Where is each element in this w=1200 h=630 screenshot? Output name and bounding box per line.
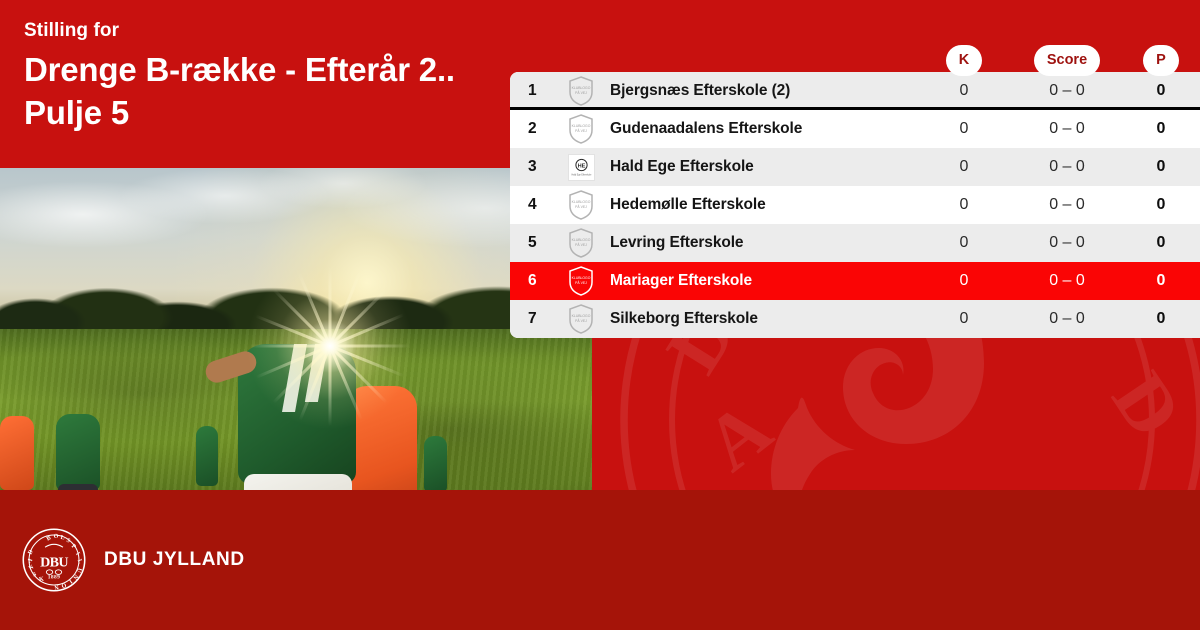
svg-text:I: I <box>74 551 81 557</box>
table-row[interactable]: 4KLUBLOGOPÅ VEJHedemølle Efterskole00 – … <box>510 186 1200 224</box>
svg-text:PÅ VEJ: PÅ VEJ <box>575 204 587 209</box>
header-kicker: Stilling for <box>24 18 588 44</box>
column-header-p[interactable]: P <box>1143 45 1179 76</box>
photo-player-far-left-green <box>56 414 100 490</box>
row-rank: 6 <box>510 272 552 290</box>
photo-player-right-background <box>424 436 447 490</box>
row-crest: KLUBLOGOPÅ VEJ <box>552 189 610 221</box>
row-crest: KLUBLOGOPÅ VEJ <box>552 75 610 107</box>
row-team-name: Bjergsnæs Efterskole (2) <box>610 82 916 100</box>
photo-player-far-left-orange <box>0 416 34 490</box>
page-title: Drenge B-række - Efterår 2.. Pulje 5 <box>24 48 588 134</box>
dbu-logo: D A N S K B O L S P I L U N I O N DBU 18… <box>22 528 86 592</box>
row-points: 0 <box>1122 196 1200 214</box>
svg-text:PÅ VEJ: PÅ VEJ <box>575 280 587 285</box>
row-matches-played: 0 <box>916 196 1012 214</box>
footer-bar: D A N S K B O L S P I L U N I O N DBU 18… <box>0 490 1200 630</box>
row-matches-played: 0 <box>916 158 1012 176</box>
row-rank: 2 <box>510 120 552 138</box>
svg-text:KLUBLOGO: KLUBLOGO <box>572 86 591 90</box>
row-matches-played: 0 <box>916 120 1012 138</box>
row-team-name: Mariager Efterskole <box>610 272 916 290</box>
svg-text:L: L <box>60 535 65 542</box>
svg-text:PÅ VEJ: PÅ VEJ <box>575 242 587 247</box>
svg-text:PÅ VEJ: PÅ VEJ <box>575 128 587 133</box>
svg-text:O: O <box>53 533 59 540</box>
row-crest: HEHald Ege Efterskole <box>552 154 610 181</box>
shield-crest-icon: KLUBLOGOPÅ VEJ <box>567 113 595 145</box>
svg-text:N: N <box>53 583 59 589</box>
row-points: 0 <box>1122 234 1200 252</box>
row-score: 0 – 0 <box>1012 272 1122 290</box>
row-score: 0 – 0 <box>1012 234 1122 252</box>
svg-text:D: D <box>1096 357 1200 452</box>
table-row[interactable]: 5KLUBLOGOPÅ VEJLevring Efterskole00 – 00 <box>510 224 1200 262</box>
row-team-name: Hedemølle Efterskole <box>610 196 916 214</box>
column-header-k[interactable]: K <box>946 45 982 76</box>
row-matches-played: 0 <box>916 82 1012 100</box>
shield-crest-icon: KLUBLOGOPÅ VEJ <box>567 75 595 107</box>
row-crest: KLUBLOGOPÅ VEJ <box>552 265 610 297</box>
svg-text:A: A <box>27 557 35 565</box>
svg-text:B: B <box>46 535 52 542</box>
svg-text:L: L <box>76 559 83 565</box>
football-photo <box>0 168 592 490</box>
row-rank: 5 <box>510 234 552 252</box>
row-score: 0 – 0 <box>1012 196 1122 214</box>
table-row[interactable]: 7KLUBLOGOPÅ VEJSilkeborg Efterskole00 – … <box>510 300 1200 338</box>
row-points: 0 <box>1122 158 1200 176</box>
svg-text:DBU: DBU <box>40 554 68 570</box>
row-rank: 4 <box>510 196 552 214</box>
svg-text:Hald Ege Efterskole: Hald Ege Efterskole <box>571 173 592 176</box>
row-team-name: Silkeborg Efterskole <box>610 310 916 328</box>
svg-text:KLUBLOGO: KLUBLOGO <box>572 314 591 318</box>
table-row[interactable]: 2KLUBLOGOPÅ VEJGudenaadalens Efterskole0… <box>510 110 1200 148</box>
shield-crest-icon: KLUBLOGOPÅ VEJ <box>567 303 595 335</box>
row-matches-played: 0 <box>916 272 1012 290</box>
svg-text:A: A <box>689 384 787 487</box>
svg-text:KLUBLOGO: KLUBLOGO <box>572 238 591 242</box>
hald-ege-monogram-icon: HEHald Ege Efterskole <box>568 154 595 181</box>
row-team-name: Hald Ege Efterskole <box>610 158 916 176</box>
row-score: 0 – 0 <box>1012 158 1122 176</box>
standings-graphic: D A D U N Stilling for Drenge B-række - … <box>0 0 1200 630</box>
svg-text:O: O <box>60 581 67 588</box>
row-rank: 1 <box>510 82 552 100</box>
svg-text:S: S <box>32 572 38 579</box>
svg-text:KLUBLOGO: KLUBLOGO <box>572 276 591 280</box>
row-score: 0 – 0 <box>1012 120 1122 138</box>
shield-crest-icon: KLUBLOGOPÅ VEJ <box>567 189 595 221</box>
svg-text:KLUBLOGO: KLUBLOGO <box>572 200 591 204</box>
svg-text:KLUBLOGO: KLUBLOGO <box>572 124 591 128</box>
row-matches-played: 0 <box>916 310 1012 328</box>
svg-text:PÅ VEJ: PÅ VEJ <box>575 90 587 95</box>
standings-table: 1KLUBLOGOPÅ VEJBjergsnæs Efterskole (2)0… <box>510 72 1200 338</box>
row-points: 0 <box>1122 272 1200 290</box>
row-points: 0 <box>1122 120 1200 138</box>
row-team-name: Levring Efterskole <box>610 234 916 252</box>
row-score: 0 – 0 <box>1012 82 1122 100</box>
row-crest: KLUBLOGOPÅ VEJ <box>552 303 610 335</box>
row-crest: KLUBLOGOPÅ VEJ <box>552 113 610 145</box>
row-team-name: Gudenaadalens Efterskole <box>610 120 916 138</box>
column-header-score[interactable]: Score <box>1034 45 1100 76</box>
row-rank: 3 <box>510 158 552 176</box>
photo-player-main-shorts <box>244 474 352 490</box>
table-row[interactable]: 1KLUBLOGOPÅ VEJBjergsnæs Efterskole (2)0… <box>510 72 1200 110</box>
svg-text:1889: 1889 <box>48 575 60 581</box>
row-points: 0 <box>1122 82 1200 100</box>
svg-text:HE: HE <box>577 163 585 169</box>
photo-player-mid-background <box>196 426 218 486</box>
footer-org-name: DBU JYLLAND <box>104 549 245 571</box>
shield-crest-icon: KLUBLOGOPÅ VEJ <box>567 265 595 297</box>
shield-crest-icon: KLUBLOGOPÅ VEJ <box>567 227 595 259</box>
row-score: 0 – 0 <box>1012 310 1122 328</box>
row-points: 0 <box>1122 310 1200 328</box>
table-row[interactable]: 3HEHald Ege EfterskoleHald Ege Efterskol… <box>510 148 1200 186</box>
table-row[interactable]: 6KLUBLOGOPÅ VEJMariager Efterskole00 – 0… <box>510 262 1200 300</box>
svg-text:PÅ VEJ: PÅ VEJ <box>575 318 587 323</box>
row-crest: KLUBLOGOPÅ VEJ <box>552 227 610 259</box>
svg-text:K: K <box>39 577 45 584</box>
row-rank: 7 <box>510 310 552 328</box>
row-matches-played: 0 <box>916 234 1012 252</box>
